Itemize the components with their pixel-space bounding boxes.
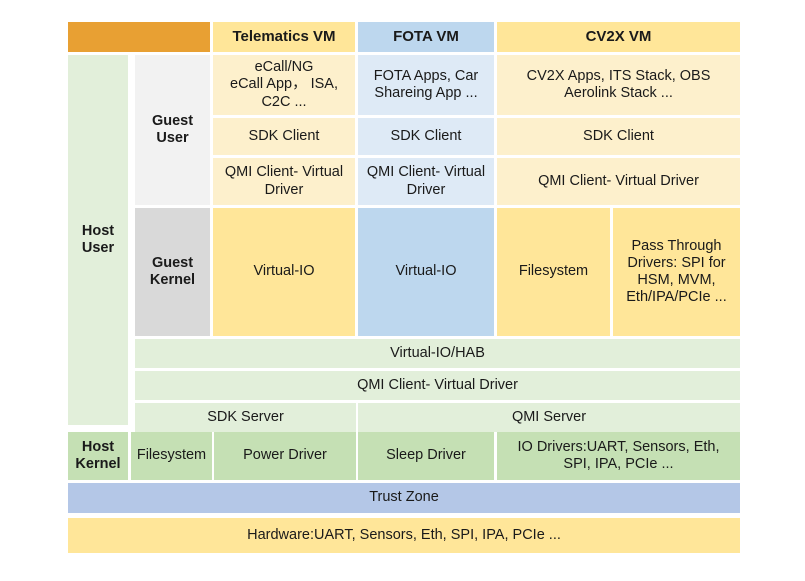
header-telematics-vm: Telematics VM xyxy=(213,22,355,52)
host-kernel-sleep-driver: Sleep Driver xyxy=(358,432,494,480)
architecture-diagram: Telematics VM FOTA VM CV2X VM Host User … xyxy=(0,0,805,581)
header-cv2x-vm: CV2X VM xyxy=(497,22,740,52)
guest-app-fota: FOTA Apps, Car Shareing App ... xyxy=(358,55,494,115)
side-label-host-user: Host User xyxy=(68,55,128,425)
host-kernel-filesystem: Filesystem xyxy=(131,432,212,480)
guest-kernel-virtual-io-telematics: Virtual-IO xyxy=(213,208,355,336)
side-label-guest-user: Guest User xyxy=(135,55,210,205)
sdk-client-cv2x: SDK Client xyxy=(497,118,740,155)
sdk-client-telematics: SDK Client xyxy=(213,118,355,155)
sdk-client-fota: SDK Client xyxy=(358,118,494,155)
host-kernel-io-drivers: IO Drivers:UART, Sensors, Eth, SPI, IPA,… xyxy=(497,432,740,480)
header-corner-block xyxy=(68,22,210,52)
guest-app-telematics: eCall/NG eCall App， ISA, C2C ... xyxy=(213,55,355,115)
qmi-client-cv2x: QMI Client- Virtual Driver xyxy=(497,158,740,205)
host-user-virtual-io-hab: Virtual-IO/HAB xyxy=(135,339,740,368)
qmi-client-telematics: QMI Client- Virtual Driver xyxy=(213,158,355,205)
host-user-sdk-server: SDK Server xyxy=(135,403,356,432)
guest-kernel-virtual-io-fota: Virtual-IO xyxy=(358,208,494,336)
guest-kernel-passthrough-drivers-cv2x: Pass Through Drivers: SPI for HSM, MVM, … xyxy=(613,208,740,336)
side-label-host-kernel: Host Kernel xyxy=(68,432,128,480)
qmi-client-fota: QMI Client- Virtual Driver xyxy=(358,158,494,205)
trust-zone-layer: Trust Zone xyxy=(68,483,740,513)
guest-app-cv2x: CV2X Apps, ITS Stack, OBS Aerolink Stack… xyxy=(497,55,740,115)
guest-kernel-filesystem-cv2x: Filesystem xyxy=(497,208,610,336)
host-user-qmi-client-virtual-driver: QMI Client- Virtual Driver xyxy=(135,371,740,400)
side-label-guest-kernel: Guest Kernel xyxy=(135,208,210,336)
header-fota-vm: FOTA VM xyxy=(358,22,494,52)
host-user-qmi-server: QMI Server xyxy=(358,403,740,432)
host-kernel-power-driver: Power Driver xyxy=(214,432,356,480)
hardware-layer: Hardware:UART, Sensors, Eth, SPI, IPA, P… xyxy=(68,518,740,553)
